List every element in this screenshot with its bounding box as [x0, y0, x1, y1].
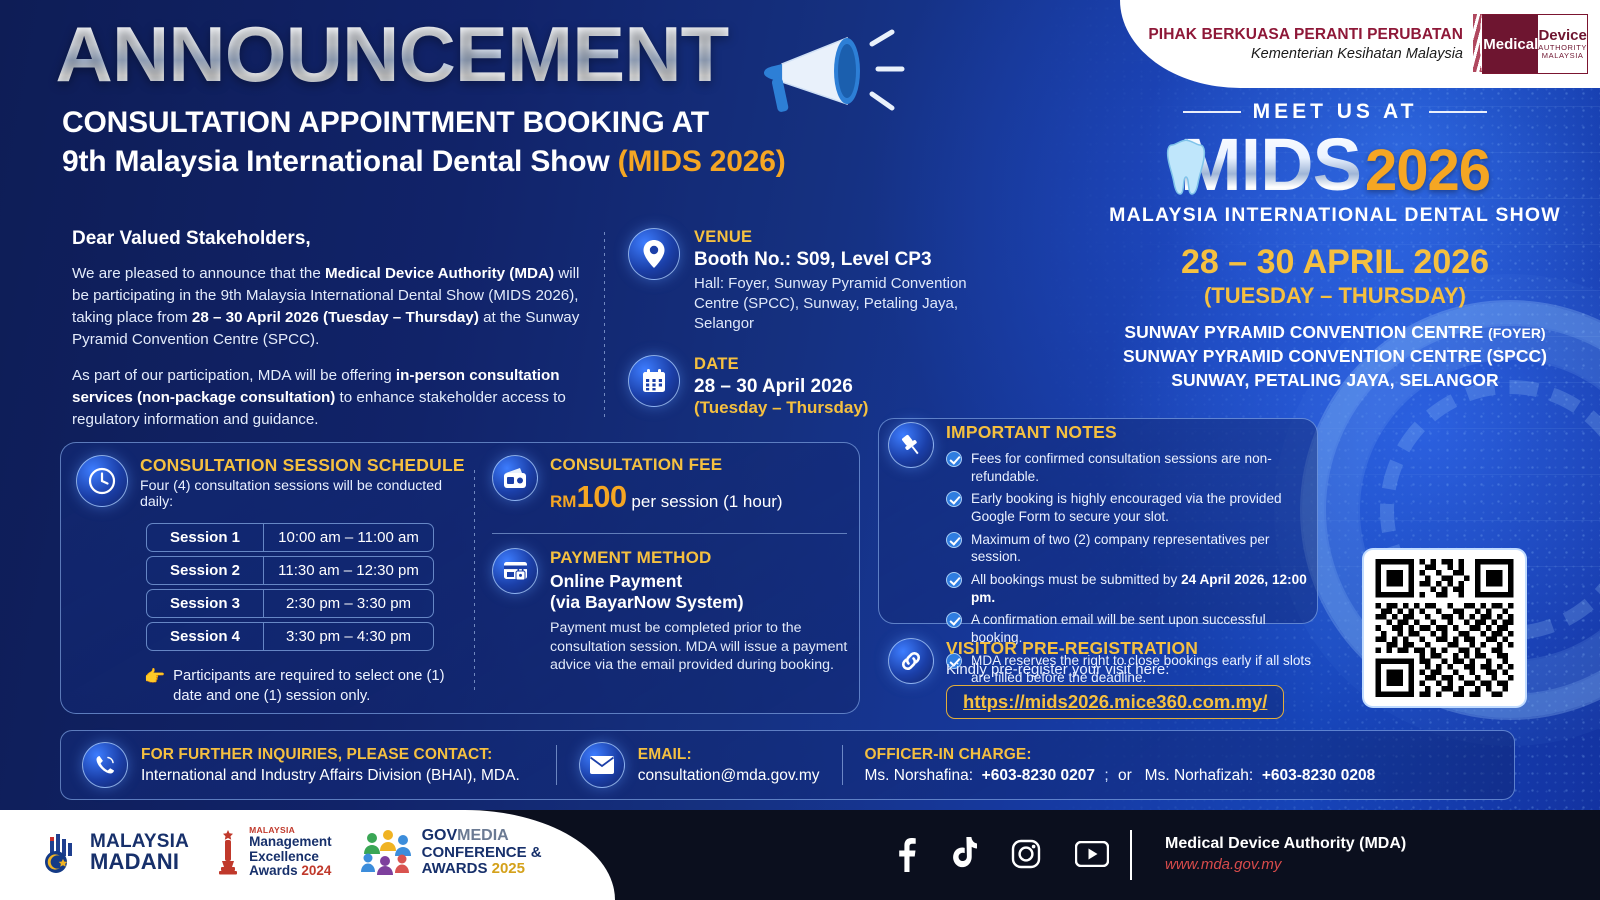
instagram-icon[interactable] [1011, 839, 1041, 869]
note-text: Maximum of two (2) company representativ… [971, 531, 1313, 566]
madani-text: MALAYSIA MADANI [90, 832, 189, 874]
note-text: All bookings must be submitted by 24 Apr… [971, 571, 1313, 606]
headline-subtitle-1: CONSULTATION APPOINTMENT BOOKING AT [62, 106, 786, 140]
schedule-subtitle: Four (4) consultation sessions will be c… [140, 478, 476, 510]
mids-venue-line1-small: (FOYER) [1488, 325, 1546, 341]
date-value: 28 – 30 April 2026 [694, 376, 868, 398]
meet-us-rule-right [1429, 111, 1487, 113]
headline-block: ANNOUNCEMENT CONSULTATION APPOINTMENT BO… [62, 16, 786, 179]
venue-text: VENUE Booth No.: S09, Level CP3 Hall: Fo… [694, 228, 998, 333]
headline-subtitle-2: 9th Malaysia International Dental Show (… [62, 145, 786, 179]
schedule-note: 👉 Participants are required to select on… [144, 667, 476, 706]
inquiries-label: FOR FURTHER INQUIRIES, PLEASE CONTACT: [141, 746, 520, 764]
people-group-icon [358, 828, 414, 876]
mda-logo: Medical Device AUTHORITY MALAYSIA [1473, 14, 1588, 74]
officer-separator: ; [1104, 767, 1108, 784]
mids-logo-year: 2026 [1365, 141, 1490, 202]
announcement-poster: PIHAK BERKUASA PERANTI PERUBATAN Kemente… [0, 0, 1600, 900]
contact-divider-2 [842, 745, 843, 785]
location-pin-icon [628, 228, 680, 280]
mids-venue-line1: SUNWAY PYRAMID CONVENTION CENTRE (FOYER) [1080, 322, 1590, 343]
trophy-icon [215, 828, 243, 876]
megaphone-icon [752, 22, 922, 132]
body-venue-divider [604, 232, 605, 418]
visitor-title: VISITOR PRE-REGISTRATION [946, 638, 1284, 659]
mmea-awards-text: Awards [249, 863, 301, 878]
mids-panel: MEET US AT MIDS 2026 MALAYSIA INTERNATIO… [1080, 100, 1590, 391]
contact-divider-1 [556, 745, 557, 785]
envelope-icon [579, 742, 625, 788]
inquiries-text: FOR FURTHER INQUIRIES, PLEASE CONTACT: I… [141, 746, 520, 785]
media-word: MEDIA [457, 827, 509, 844]
page-title: ANNOUNCEMENT [55, 16, 728, 92]
schedule-body: CONSULTATION SESSION SCHEDULE Four (4) c… [140, 455, 476, 706]
madani-line2: MADANI [90, 851, 189, 873]
payment-method-line1: Online Payment [550, 571, 852, 592]
date-text: DATE 28 – 30 April 2026 (Tuesday – Thurs… [694, 355, 868, 418]
gov-word: GOV [422, 827, 458, 844]
date-label: DATE [694, 355, 868, 374]
session-label: Session 2 [146, 556, 264, 585]
list-item: Maximum of two (2) company representativ… [946, 531, 1313, 566]
footer-divider [1130, 830, 1132, 880]
visitor-subtitle: Kindly pre-register your visit here: [946, 661, 1284, 678]
pushpin-icon [888, 422, 934, 468]
fee-per: per session (1 hour) [627, 492, 783, 511]
session-label: Session 3 [146, 589, 264, 618]
tiktok-icon[interactable] [951, 837, 977, 871]
email-text: EMAIL: consultation@mda.gov.my [638, 746, 820, 785]
consultation-schedule-block: CONSULTATION SESSION SCHEDULE Four (4) c… [76, 455, 476, 706]
gov-line3: AWARDS 2025 [422, 861, 542, 877]
headline-mids-highlight: (MIDS 2026) [618, 145, 786, 178]
mda-logo-box: Medical Device AUTHORITY MALAYSIA [1482, 14, 1588, 74]
fee-currency: RM [550, 492, 576, 511]
mids-logo: MIDS 2026 [1080, 128, 1590, 202]
mmea-line2: Excellence [249, 850, 332, 865]
mids-venue-line1-text: SUNWAY PYRAMID CONVENTION CENTRE [1124, 322, 1488, 342]
consultation-fee-block: CONSULTATION FEE RM100 per session (1 ho… [492, 455, 847, 515]
meet-us-rule-left [1183, 111, 1241, 113]
check-icon [946, 572, 962, 588]
note-text: Fees for confirmed consultation sessions… [971, 450, 1313, 485]
body-copy: Dear Valued Stakeholders, We are pleased… [72, 228, 592, 445]
session-time: 10:00 am – 11:00 am [264, 523, 434, 552]
officer-1-name: Ms. Norshafina: [865, 767, 974, 784]
visitor-preregistration-block: VISITOR PRE-REGISTRATION Kindly pre-regi… [888, 638, 1328, 719]
mda-logo-swoosh-icon [1473, 14, 1482, 72]
contact-bar: FOR FURTHER INQUIRIES, PLEASE CONTACT: I… [60, 730, 1515, 800]
footer-org-url[interactable]: www.mda.gov.my [1165, 855, 1406, 875]
card-lock-icon [492, 548, 538, 594]
list-item: All bookings must be submitted by 24 Apr… [946, 571, 1313, 606]
session-label: Session 4 [146, 622, 264, 651]
mids-days: (TUESDAY – THURSDAY) [1080, 283, 1590, 309]
email-block: EMAIL: consultation@mda.gov.my [579, 742, 820, 788]
govmedia-logo: GOVMEDIA CONFERENCE & AWARDS 2025 [358, 828, 542, 877]
mmea-line3: Awards 2024 [249, 864, 332, 879]
calendar-icon [628, 355, 680, 407]
fee-payment-divider [492, 533, 847, 534]
date-block: DATE 28 – 30 April 2026 (Tuesday – Thurs… [628, 355, 998, 418]
visitor-body: VISITOR PRE-REGISTRATION Kindly pre-regi… [946, 638, 1284, 719]
officer-or: or [1118, 767, 1132, 784]
list-item: Early booking is highly encouraged via t… [946, 490, 1313, 525]
session-time: 3:30 pm – 4:30 pm [264, 622, 434, 651]
date-days: (Tuesday – Thursday) [694, 398, 868, 418]
mids-venue-line3: SUNWAY, PETALING JAYA, SELANGOR [1080, 370, 1590, 391]
gov-year: 2025 [492, 860, 525, 877]
session-time: 11:30 am – 12:30 pm [264, 556, 434, 585]
qr-code-icon[interactable] [1362, 548, 1527, 708]
mda-authority-header: PIHAK BERKUASA PERANTI PERUBATAN Kemente… [1120, 0, 1600, 88]
session-time: 2:30 pm – 3:30 pm [264, 589, 434, 618]
table-row: Session 43:30 pm – 4:30 pm [146, 622, 434, 651]
footer-bar: MALAYSIA MADANI MALAYSIA Management Exce… [0, 810, 1600, 900]
list-item: Fees for confirmed consultation sessions… [946, 450, 1313, 485]
mids-dates-text: 28 – 30 APRIL 2026 [1181, 243, 1489, 281]
mids-dates: 28 – 30 APRIL 2026 [1080, 243, 1590, 282]
mmea-text: MALAYSIA Management Excellence Awards 20… [249, 826, 332, 879]
mda-header-line1: PIHAK BERKUASA PERANTI PERUBATAN [1148, 25, 1463, 44]
officer-block: OFFICER-IN CHARGE: Ms. Norshafina: +603-… [865, 746, 1376, 785]
mda-header-text: PIHAK BERKUASA PERANTI PERUBATAN Kemente… [1148, 25, 1463, 63]
tooth-icon [1166, 137, 1210, 199]
visitor-url-link[interactable]: https://mids2026.mice360.com.my/ [946, 685, 1284, 719]
footer-org-name: Medical Device Authority (MDA) [1165, 834, 1406, 855]
mda-logo-malaysia-text: MALAYSIA [1542, 52, 1584, 60]
mmea-logo: MALAYSIA Management Excellence Awards 20… [215, 826, 332, 879]
mmea-line1: Management [249, 835, 332, 850]
fee-title: CONSULTATION FEE [550, 455, 783, 475]
schedule-title: CONSULTATION SESSION SCHEDULE [140, 455, 476, 476]
email-value[interactable]: consultation@mda.gov.my [638, 767, 820, 785]
venue-hall: Hall: Foyer, Sunway Pyramid Convention C… [694, 274, 998, 333]
table-row: Session 211:30 am – 12:30 pm [146, 556, 434, 585]
paragraph-2: As part of our participation, MDA will b… [72, 365, 592, 431]
check-icon [946, 451, 962, 467]
mda-logo-right: Device AUTHORITY MALAYSIA [1538, 15, 1587, 73]
malaysia-madani-logo: MALAYSIA MADANI [38, 830, 189, 874]
check-icon [946, 532, 962, 548]
malaysia-madani-icon [38, 830, 82, 874]
mids-tagline: MALAYSIA INTERNATIONAL DENTAL SHOW [1080, 204, 1590, 227]
officer-2-phone: +603-8230 0208 [1262, 767, 1375, 784]
footer-org-block: Medical Device Authority (MDA) www.mda.g… [1165, 834, 1406, 874]
officer-2-name: Ms. Norhafizah: [1145, 767, 1254, 784]
notes-title: IMPORTANT NOTES [946, 422, 1313, 443]
p1-pre: We are pleased to announce that the [72, 265, 325, 282]
check-icon [946, 491, 962, 507]
venue-date-column: VENUE Booth No.: S09, Level CP3 Hall: Fo… [628, 228, 998, 440]
clock-icon [76, 455, 128, 507]
pointing-hand-icon: 👉 [144, 667, 165, 687]
officer-values: Ms. Norshafina: +603-8230 0207 ; or Ms. … [865, 767, 1376, 785]
note-text: Early booking is highly encouraged via t… [971, 490, 1313, 525]
youtube-icon[interactable] [1075, 841, 1109, 867]
footer-logos: MALAYSIA MADANI MALAYSIA Management Exce… [38, 826, 542, 879]
fee-value: 100 [576, 479, 626, 514]
paragraph-1: We are pleased to announce that the Medi… [72, 263, 592, 351]
officer-label: OFFICER-IN CHARGE: [865, 746, 1376, 764]
officer-1-phone: +603-8230 0207 [982, 767, 1095, 784]
inquiries-value: International and Industry Affairs Divis… [141, 767, 520, 785]
gov-awards-text: AWARDS [422, 860, 492, 877]
session-label: Session 1 [146, 523, 264, 552]
p1-bold-dates: 28 – 30 April 2026 (Tuesday – Thursday) [192, 309, 479, 326]
facebook-icon[interactable] [895, 836, 917, 872]
mda-header-line2: Kementerian Kesihatan Malaysia [1148, 45, 1463, 63]
table-row: Session 32:30 pm – 3:30 pm [146, 589, 434, 618]
social-links [895, 836, 1109, 872]
email-label: EMAIL: [638, 746, 820, 764]
payment-method-line2: (via BayarNow System) [550, 592, 852, 613]
note-text-pre: All bookings must be submitted by [971, 572, 1181, 587]
payment-method-block: PAYMENT METHOD Online Payment (via Bayar… [492, 548, 852, 675]
payment-title: PAYMENT METHOD [550, 548, 852, 568]
gov-line1: GOVMEDIA [422, 828, 542, 845]
check-icon [946, 612, 962, 628]
mmea-year: 2024 [301, 863, 331, 878]
gov-line2: CONFERENCE & [422, 845, 542, 861]
p1-bold-mda: Medical Device Authority (MDA) [325, 265, 554, 282]
schedule-note-text: Participants are required to select one … [173, 667, 476, 706]
mda-logo-medical-text: Medical [1483, 15, 1538, 73]
mda-logo-device-text: Device [1538, 28, 1586, 44]
phone-icon [82, 742, 128, 788]
headline-subtitle-2-text: 9th Malaysia International Dental Show [62, 145, 618, 178]
payment-body: PAYMENT METHOD Online Payment (via Bayar… [550, 548, 852, 675]
schedule-table: Session 110:00 am – 11:00 am Session 211… [146, 519, 434, 655]
inquiries-block: FOR FURTHER INQUIRIES, PLEASE CONTACT: I… [82, 742, 520, 788]
payment-description: Payment must be completed prior to the c… [550, 619, 852, 676]
govmedia-text: GOVMEDIA CONFERENCE & AWARDS 2025 [422, 828, 542, 877]
mids-venue-line2: SUNWAY PYRAMID CONVENTION CENTRE (SPCC) [1080, 346, 1590, 367]
fee-body: CONSULTATION FEE RM100 per session (1 ho… [550, 455, 783, 515]
link-icon [888, 638, 934, 684]
table-row: Session 110:00 am – 11:00 am [146, 523, 434, 552]
venue-label: VENUE [694, 228, 998, 247]
venue-booth: Booth No.: S09, Level CP3 [694, 249, 998, 271]
p2-pre: As part of our participation, MDA will b… [72, 367, 396, 384]
meet-us-at-label: MEET US AT [1253, 100, 1418, 124]
qr-code-graphic [1373, 559, 1516, 697]
fee-amount: RM100 per session (1 hour) [550, 479, 783, 515]
wallet-icon [492, 455, 538, 501]
venue-block: VENUE Booth No.: S09, Level CP3 Hall: Fo… [628, 228, 998, 333]
salutation: Dear Valued Stakeholders, [72, 228, 592, 250]
